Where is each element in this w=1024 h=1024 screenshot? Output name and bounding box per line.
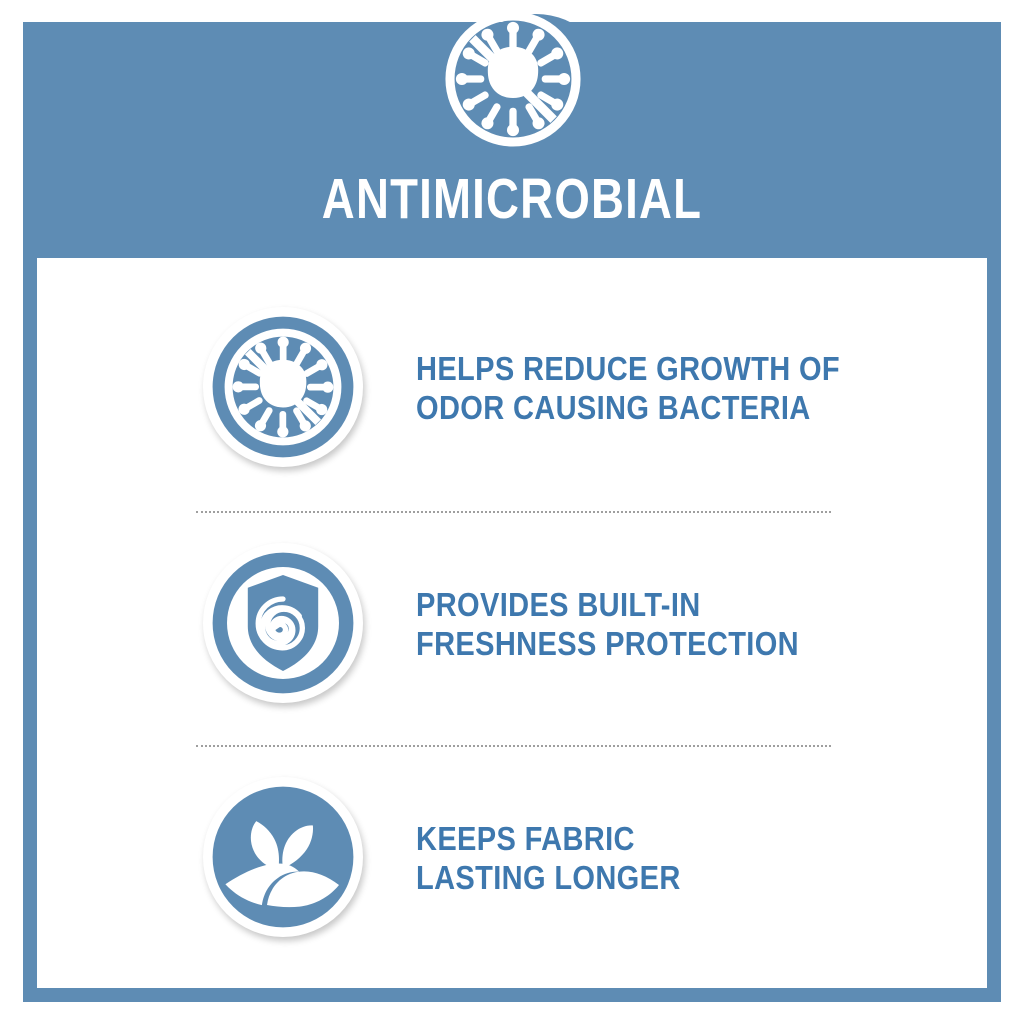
divider (196, 511, 831, 513)
feature-icon-wrap (197, 771, 372, 946)
feature-text: PROVIDES BUILT-IN FRESHNESS PROTECTION (416, 585, 799, 663)
feature-text: HELPS REDUCE GROWTH OF ODOR CAUSING BACT… (416, 349, 840, 427)
no-germ-icon (203, 307, 363, 467)
page-title: ANTIMICROBIAL (121, 168, 903, 230)
feature-text-line-1: PROVIDES BUILT-IN (416, 585, 799, 624)
divider (196, 745, 831, 747)
feature-text: KEEPS FABRIC LASTING LONGER (416, 819, 681, 897)
list-item: HELPS REDUCE GROWTH OF ODOR CAUSING BACT… (37, 288, 987, 488)
list-item: PROVIDES BUILT-IN FRESHNESS PROTECTION (37, 524, 987, 724)
feature-text-line-1: HELPS REDUCE GROWTH OF (416, 349, 840, 388)
feature-text-line-2: ODOR CAUSING BACTERIA (416, 388, 840, 427)
leaf-sprout-icon (203, 777, 363, 937)
feature-list: HELPS REDUCE GROWTH OF ODOR CAUSING BACT… (37, 258, 987, 988)
feature-text-line-1: KEEPS FABRIC (416, 819, 681, 858)
feature-text-line-2: LASTING LONGER (416, 858, 681, 897)
feature-icon-wrap (197, 537, 372, 712)
feature-text-line-2: FRESHNESS PROTECTION (416, 624, 799, 663)
list-item: KEEPS FABRIC LASTING LONGER (37, 758, 987, 958)
infographic-card: ANTIMICROBIAL (0, 0, 1024, 1024)
no-germ-icon (443, 9, 583, 149)
shield-swirl-icon (203, 543, 363, 703)
feature-icon-wrap (197, 301, 372, 476)
